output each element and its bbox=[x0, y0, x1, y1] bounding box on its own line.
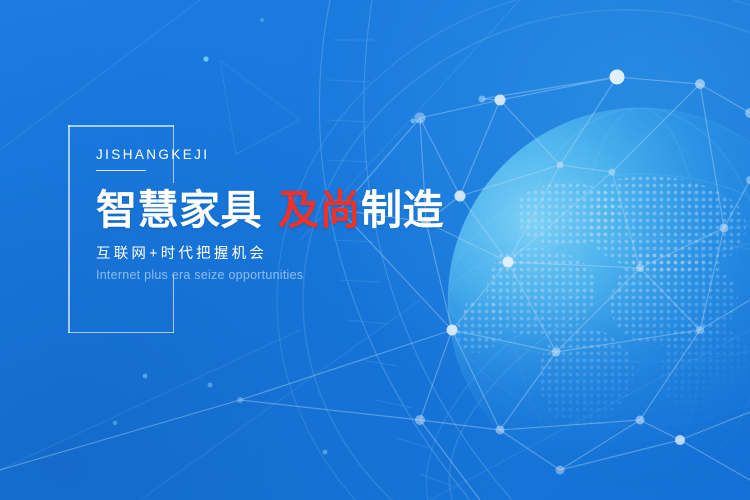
eyebrow-underline bbox=[96, 170, 146, 172]
promo-banner: JISHANGKEJI 智慧家具及尚制造 互联网+时代把握机会 Internet… bbox=[0, 0, 750, 500]
page-title: 智慧家具及尚制造 bbox=[96, 188, 516, 232]
headline-block: JISHANGKEJI 智慧家具及尚制造 互联网+时代把握机会 Internet… bbox=[96, 148, 516, 281]
headline-part-1: 智慧家具 bbox=[96, 186, 262, 234]
headline-brand-accent: 及尚 bbox=[278, 186, 361, 234]
brand-pinyin-eyebrow: JISHANGKEJI bbox=[96, 148, 516, 162]
headline-part-2: 制造 bbox=[361, 186, 444, 234]
subtitle-english: Internet plus era seize opportunities bbox=[96, 269, 516, 282]
subtitle-chinese: 互联网+时代把握机会 bbox=[96, 247, 516, 262]
